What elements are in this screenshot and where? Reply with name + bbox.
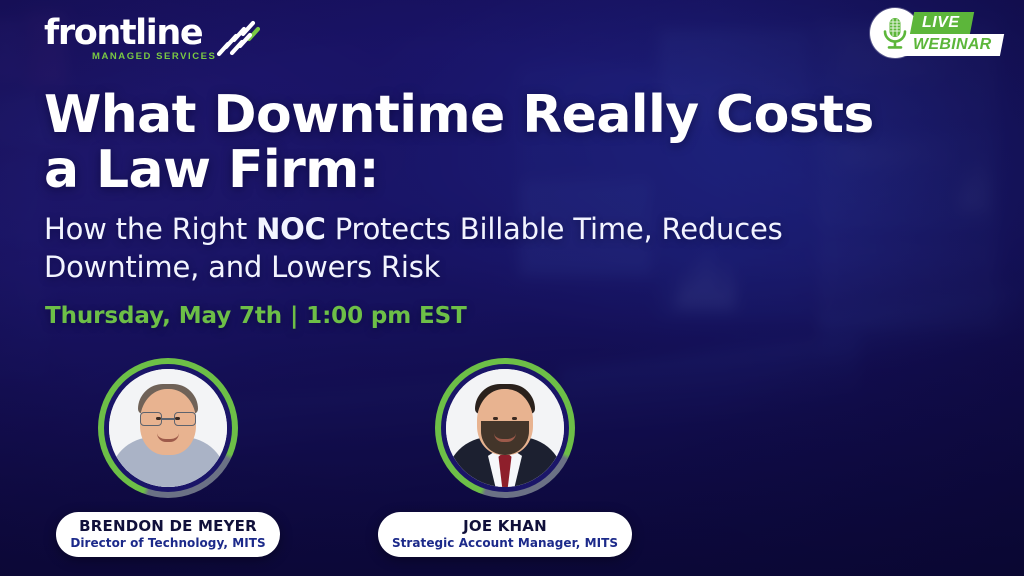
event-datetime: Thursday, May 7th | 1:00 pm EST [45, 303, 467, 329]
page-subtitle: How the Right NOC Protects Billable Time… [44, 210, 924, 287]
badge-webinar-banner: WEBINAR [902, 34, 1004, 56]
logo-wordmark: frontline [44, 16, 202, 51]
speaker-avatar [435, 358, 575, 498]
subhead-part-1: How the Right [44, 212, 256, 246]
page-title: What Downtime Really Costs a Law Firm: [44, 88, 914, 198]
headline-line-1: What Downtime Really Costs [44, 88, 914, 143]
speaker-card: BRENDON DE MEYER Director of Technology,… [18, 358, 318, 557]
portrait-brendon-de-meyer [109, 369, 227, 487]
logo-tagline: MANAGED SERVICES [92, 51, 216, 62]
badge-live-label: LIVE [922, 14, 960, 32]
speaker-name: BRENDON DE MEYER [70, 518, 265, 535]
subhead-emphasis-noc: NOC [256, 212, 326, 246]
speaker-name: JOE KHAN [392, 518, 618, 535]
live-webinar-badge: LIVE WEBINAR [870, 8, 1010, 60]
speaker-role: Director of Technology, MITS [70, 536, 265, 550]
speaker-nameplate: JOE KHAN Strategic Account Manager, MITS [378, 512, 632, 557]
speaker-nameplate: BRENDON DE MEYER Director of Technology,… [56, 512, 279, 557]
speaker-card: JOE KHAN Strategic Account Manager, MITS [355, 358, 655, 557]
avatar-photo [109, 369, 227, 487]
speaker-avatar [98, 358, 238, 498]
badge-webinar-label: WEBINAR [913, 36, 992, 54]
speaker-role: Strategic Account Manager, MITS [392, 536, 618, 550]
headline-line-2: a Law Firm: [44, 143, 914, 198]
portrait-joe-khan [446, 369, 564, 487]
webinar-promo-graphic: frontline MANAGED SERVICES [0, 0, 1024, 576]
badge-live-banner: LIVE [910, 12, 974, 34]
swoosh-dashes-icon [212, 20, 260, 60]
frontline-logo: frontline MANAGED SERVICES [44, 14, 254, 66]
avatar-photo [446, 369, 564, 487]
